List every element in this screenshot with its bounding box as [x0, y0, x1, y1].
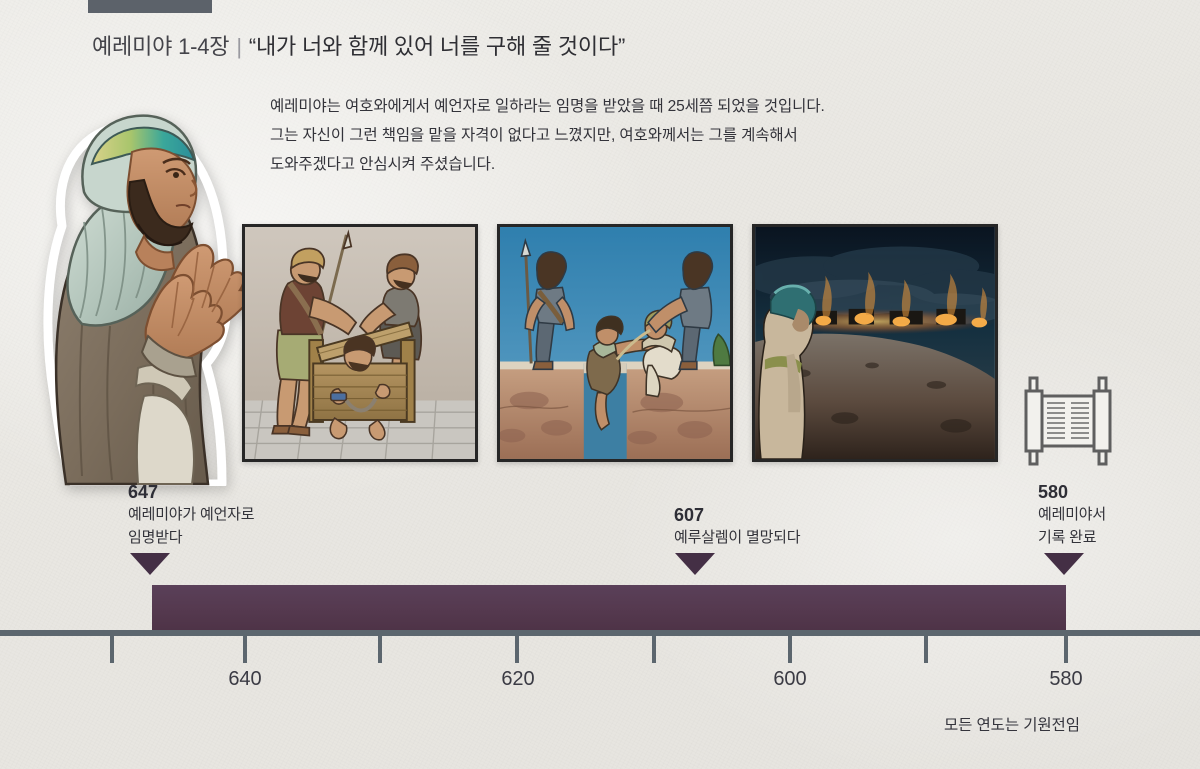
- timeline-tick: [110, 636, 114, 663]
- timeline-event-580[interactable]: 580 예레미야서 기록 완료: [1038, 481, 1106, 575]
- event-year: 607: [674, 504, 800, 526]
- event-arrow-icon: [675, 553, 715, 575]
- timeline-tick-label: 580: [1049, 668, 1082, 691]
- timeline-tick: [788, 636, 792, 663]
- timeline-tick: [243, 636, 247, 663]
- event-description: 예레미야가 예언자로 임명받다: [128, 503, 254, 549]
- timeline-axis: [0, 630, 1200, 636]
- event-arrow-icon: [1044, 553, 1084, 575]
- timeline-period-bar: [152, 585, 1066, 630]
- timeline-tick: [1064, 636, 1068, 663]
- timeline-tick: [515, 636, 519, 663]
- timeline-tick-label: 600: [773, 668, 806, 691]
- event-year: 580: [1038, 481, 1106, 503]
- timeline-tick: [924, 636, 928, 663]
- event-arrow-icon: [130, 553, 170, 575]
- timeline: 647 예레미야가 예언자로 임명받다 607 예루살렘이 멸망되다 580 예…: [0, 0, 1200, 769]
- timeline-event-607[interactable]: 607 예루살렘이 멸망되다: [674, 504, 800, 575]
- timeline-tick: [378, 636, 382, 663]
- event-description: 예레미야서 기록 완료: [1038, 503, 1106, 549]
- footer-note: 모든 연도는 기원전임: [944, 713, 1080, 735]
- timeline-tick-label: 620: [501, 668, 534, 691]
- timeline-tick: [652, 636, 656, 663]
- infographic-stage: 예레미야 1-4장 | “내가 너와 함께 있어 너를 구해 줄 것이다” 예레…: [0, 0, 1200, 769]
- event-year: 647: [128, 481, 254, 503]
- event-description: 예루살렘이 멸망되다: [674, 526, 800, 549]
- timeline-event-647[interactable]: 647 예레미야가 예언자로 임명받다: [128, 481, 254, 575]
- timeline-tick-label: 640: [228, 668, 261, 691]
